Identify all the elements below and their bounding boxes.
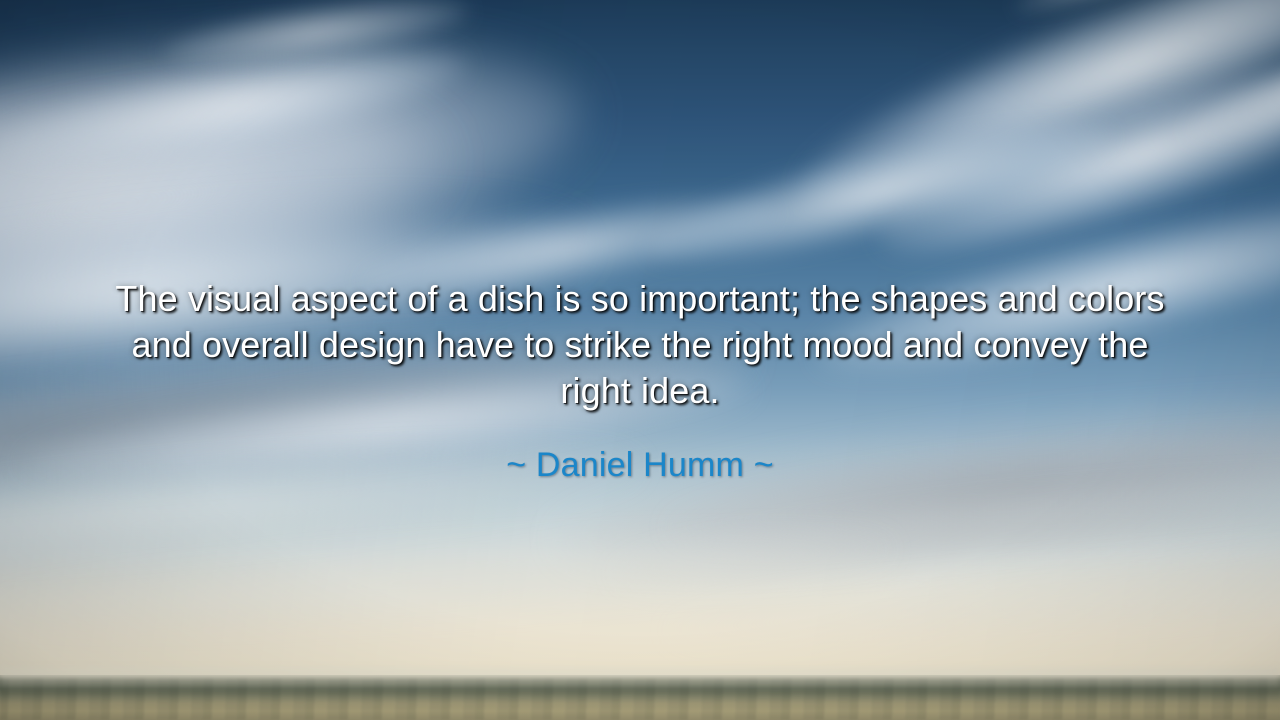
quote-text: The visual aspect of a dish is so import… bbox=[105, 276, 1175, 414]
text-overlay: The visual aspect of a dish is so import… bbox=[0, 0, 1280, 720]
quote-attribution: ~ Daniel Humm ~ bbox=[105, 414, 1175, 485]
quote-block: The visual aspect of a dish is so import… bbox=[105, 276, 1175, 485]
quote-image-canvas: The visual aspect of a dish is so import… bbox=[0, 0, 1280, 720]
